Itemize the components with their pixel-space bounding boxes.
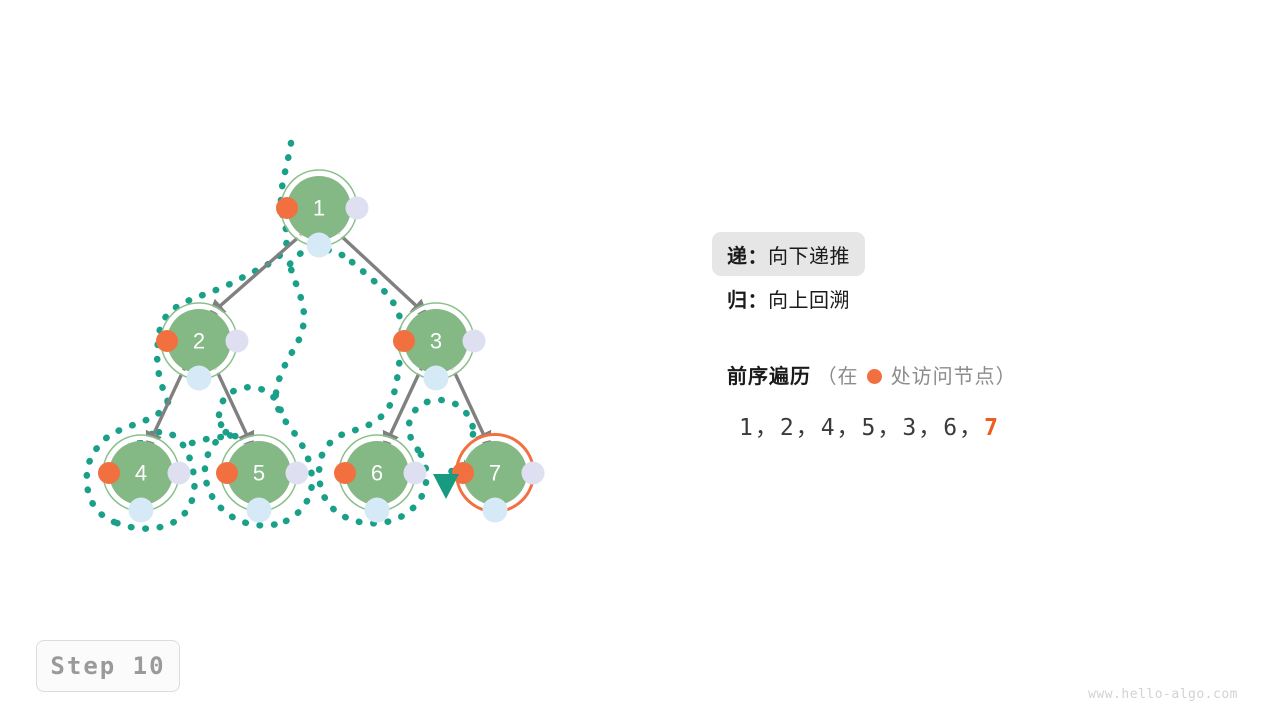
node-label: 7 bbox=[489, 461, 501, 486]
node-label: 1 bbox=[313, 196, 325, 221]
node-bottom-dot-icon bbox=[247, 498, 272, 523]
node-visit-dot-icon bbox=[216, 462, 238, 484]
node-visit-dot-icon bbox=[276, 197, 298, 219]
node-bottom-dot-icon bbox=[307, 233, 332, 258]
node-label: 3 bbox=[430, 329, 442, 354]
traversal-order-name: 前序遍历 bbox=[727, 366, 811, 388]
recursion-legend: 递： 向下递推 归： 向上回溯 bbox=[727, 232, 1197, 320]
legend-value-descend: 向下递推 bbox=[768, 240, 850, 269]
orange-dot-icon bbox=[867, 369, 882, 384]
node-right-dot-icon bbox=[463, 330, 486, 353]
traversal-order-visited: 1，2，4，5，3，6， bbox=[739, 415, 984, 441]
node-right-dot-icon bbox=[286, 462, 309, 485]
traversal-order-note-prefix: （在 bbox=[817, 366, 859, 388]
node-bottom-dot-icon bbox=[187, 366, 212, 391]
node-bottom-dot-icon bbox=[129, 498, 154, 523]
traversal-order-block: 前序遍历 （在 处访问节点） 1，2，4，5，3，6，7 bbox=[727, 360, 1227, 442]
node-label: 5 bbox=[253, 461, 265, 486]
node-visit-dot-icon bbox=[334, 462, 356, 484]
legend-key-descend: 递： bbox=[727, 240, 768, 269]
traversal-order-sequence: 1，2，4，5，3，6，7 bbox=[739, 408, 1227, 442]
traversal-order-current: 7 bbox=[984, 415, 1000, 441]
node-visit-dot-icon bbox=[393, 330, 415, 352]
step-label: Step 10 bbox=[50, 652, 165, 680]
legend-row-return: 归： 向上回溯 bbox=[712, 276, 1197, 320]
node-label: 2 bbox=[193, 329, 205, 354]
site-watermark: www.hello-algo.com bbox=[1088, 687, 1238, 702]
node-visit-dot-icon bbox=[156, 330, 178, 352]
tree-node-4[interactable]: 4 bbox=[98, 435, 191, 523]
node-bottom-dot-icon bbox=[424, 366, 449, 391]
node-right-dot-icon bbox=[522, 462, 545, 485]
tree-node-5[interactable]: 5 bbox=[216, 435, 309, 523]
legend-key-return: 归： bbox=[727, 284, 768, 313]
node-label: 6 bbox=[371, 461, 383, 486]
edge-1-3 bbox=[339, 234, 424, 313]
edge-1-2 bbox=[212, 235, 301, 313]
traversal-order-note-suffix: 处访问节点） bbox=[891, 366, 1017, 388]
node-right-dot-icon bbox=[226, 330, 249, 353]
node-visit-dot-icon bbox=[98, 462, 120, 484]
node-right-dot-icon bbox=[346, 197, 369, 220]
legend-row-descend: 递： 向下递推 bbox=[712, 232, 865, 276]
node-bottom-dot-icon bbox=[365, 498, 390, 523]
edge-2-5 bbox=[216, 369, 251, 444]
node-label: 4 bbox=[135, 461, 147, 486]
legend-value-return: 向上回溯 bbox=[768, 284, 850, 313]
node-right-dot-icon bbox=[168, 462, 191, 485]
node-right-dot-icon bbox=[404, 462, 427, 485]
tree-node-7[interactable]: 7 bbox=[452, 435, 545, 523]
watermark-text: www.hello-algo.com bbox=[1088, 687, 1238, 702]
pointer-triangle-icon bbox=[433, 474, 459, 499]
traversal-order-title: 前序遍历 （在 处访问节点） bbox=[727, 360, 1227, 394]
tree-node-3[interactable]: 3 bbox=[393, 303, 486, 391]
tree-node-2[interactable]: 2 bbox=[156, 303, 249, 391]
step-badge: Step 10 bbox=[36, 640, 180, 692]
current-position-pointer bbox=[433, 474, 459, 499]
edge-2-4 bbox=[149, 369, 184, 444]
node-bottom-dot-icon bbox=[483, 498, 508, 523]
